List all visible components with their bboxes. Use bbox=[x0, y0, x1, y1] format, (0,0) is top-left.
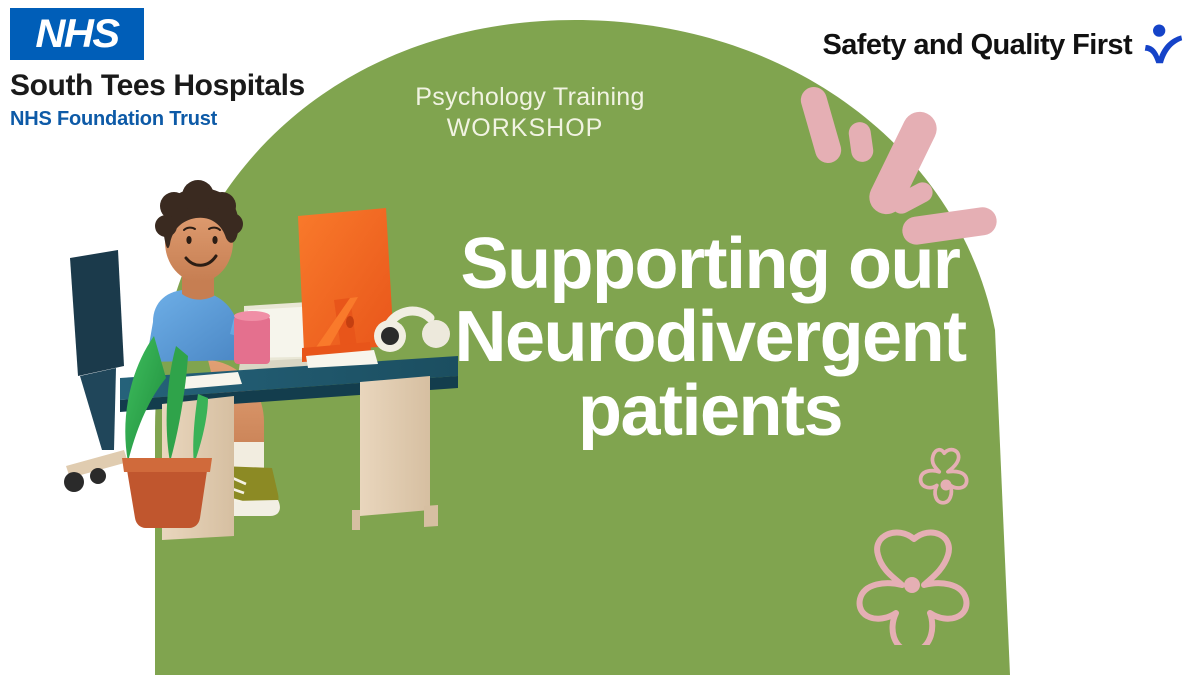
potted-plant bbox=[122, 336, 212, 528]
flower-large-center bbox=[904, 577, 920, 593]
strapline-text: Safety and Quality First bbox=[822, 29, 1132, 62]
mug bbox=[234, 311, 270, 364]
person-tick-icon bbox=[1140, 22, 1186, 68]
person-working-at-desk-illustration bbox=[58, 150, 468, 540]
flower-small-center bbox=[941, 480, 952, 491]
strapline: Safety and Quality First bbox=[822, 22, 1186, 68]
nhs-logo-text: NHS bbox=[35, 12, 118, 57]
nhs-logo-badge: NHS bbox=[10, 8, 144, 60]
headline-line-2: Neurodivergent bbox=[420, 301, 1000, 374]
flower-small-icon bbox=[921, 450, 967, 503]
pink-flowers-decoration bbox=[850, 435, 1040, 645]
poster-canvas: NHS South Tees Hospitals NHS Foundation … bbox=[0, 0, 1200, 675]
office-chair bbox=[64, 250, 128, 492]
pink-radiating-strokes-decoration bbox=[790, 70, 1030, 270]
